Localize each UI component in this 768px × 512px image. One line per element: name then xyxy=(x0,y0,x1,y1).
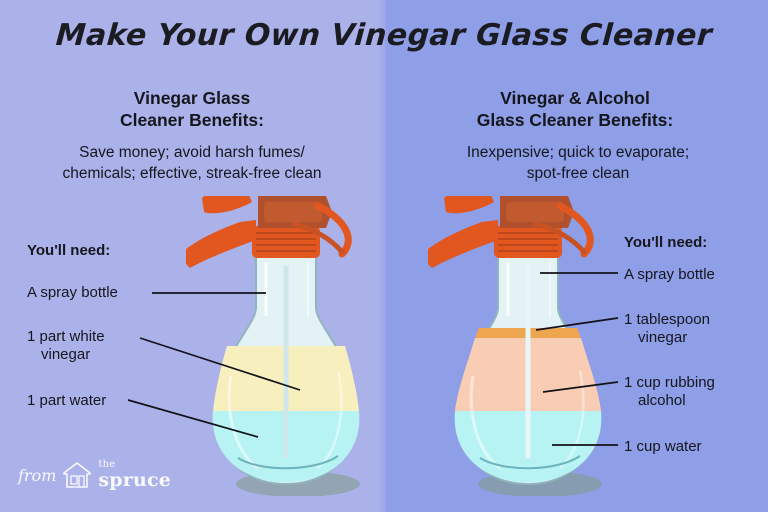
logo-spruce-text: spruce xyxy=(98,471,171,490)
brand-logo: from the spruce xyxy=(18,460,171,490)
logo-from-text: from xyxy=(18,466,56,485)
infographic-canvas: Make Your Own Vinegar Glass Cleaner Vine… xyxy=(0,0,768,512)
leader-right-vinegar xyxy=(536,318,618,330)
leader-lines xyxy=(0,0,768,512)
leader-left-vinegar xyxy=(140,338,300,390)
house-icon xyxy=(62,461,92,489)
leader-left-water xyxy=(128,400,258,437)
logo-wordmark: the spruce xyxy=(98,460,171,490)
leader-right-alcohol xyxy=(543,382,618,392)
